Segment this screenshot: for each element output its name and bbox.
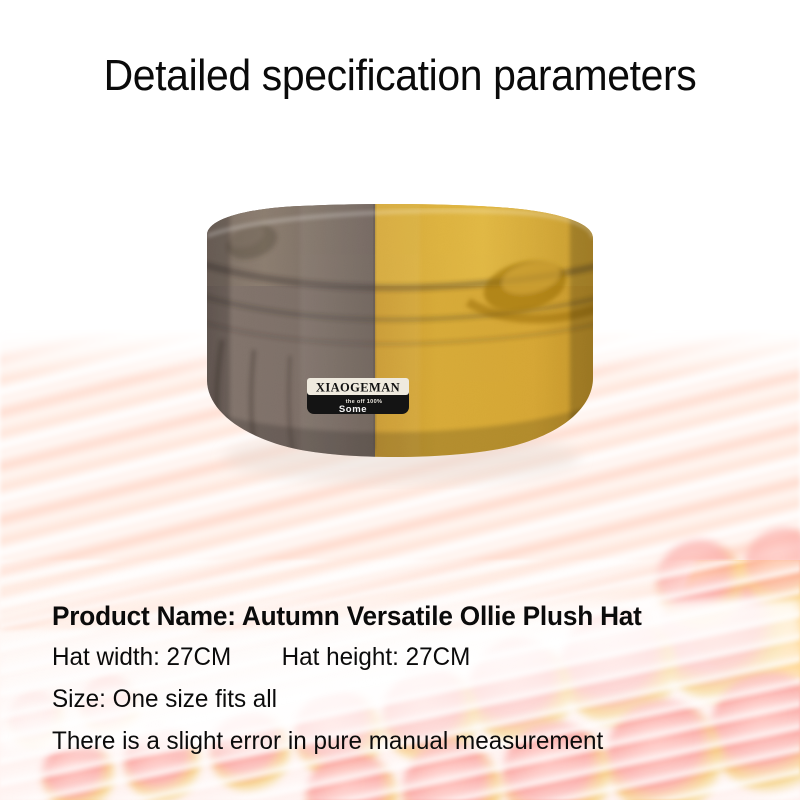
- spec-product-name: Product Name: Autumn Versatile Ollie Plu…: [52, 596, 750, 636]
- product-illustration: XIAOGEMAN the off 100% Some: [150, 190, 650, 500]
- spec-hat-width: Hat width: 27CM: [52, 643, 231, 671]
- label-brand-text: XIAOGEMAN: [316, 381, 400, 395]
- spec-hat-height: Hat height: 27CM: [282, 643, 471, 671]
- product-brand-label: XIAOGEMAN the off 100% Some: [307, 378, 409, 415]
- spec-dimensions: Hat width: 27CM Hat height: 27CM: [52, 636, 750, 678]
- product-photo: XIAOGEMAN the off 100% Some: [150, 190, 650, 500]
- page-title: Detailed specification parameters: [28, 48, 772, 104]
- specification-page: Detailed specification parameters: [0, 0, 800, 800]
- spec-measurement-note: There is a slight error in pure manual m…: [52, 720, 750, 762]
- spec-size: Size: One size fits all: [52, 678, 750, 720]
- specs-block: Product Name: Autumn Versatile Ollie Plu…: [52, 596, 772, 762]
- label-sub-large: Some: [339, 404, 367, 415]
